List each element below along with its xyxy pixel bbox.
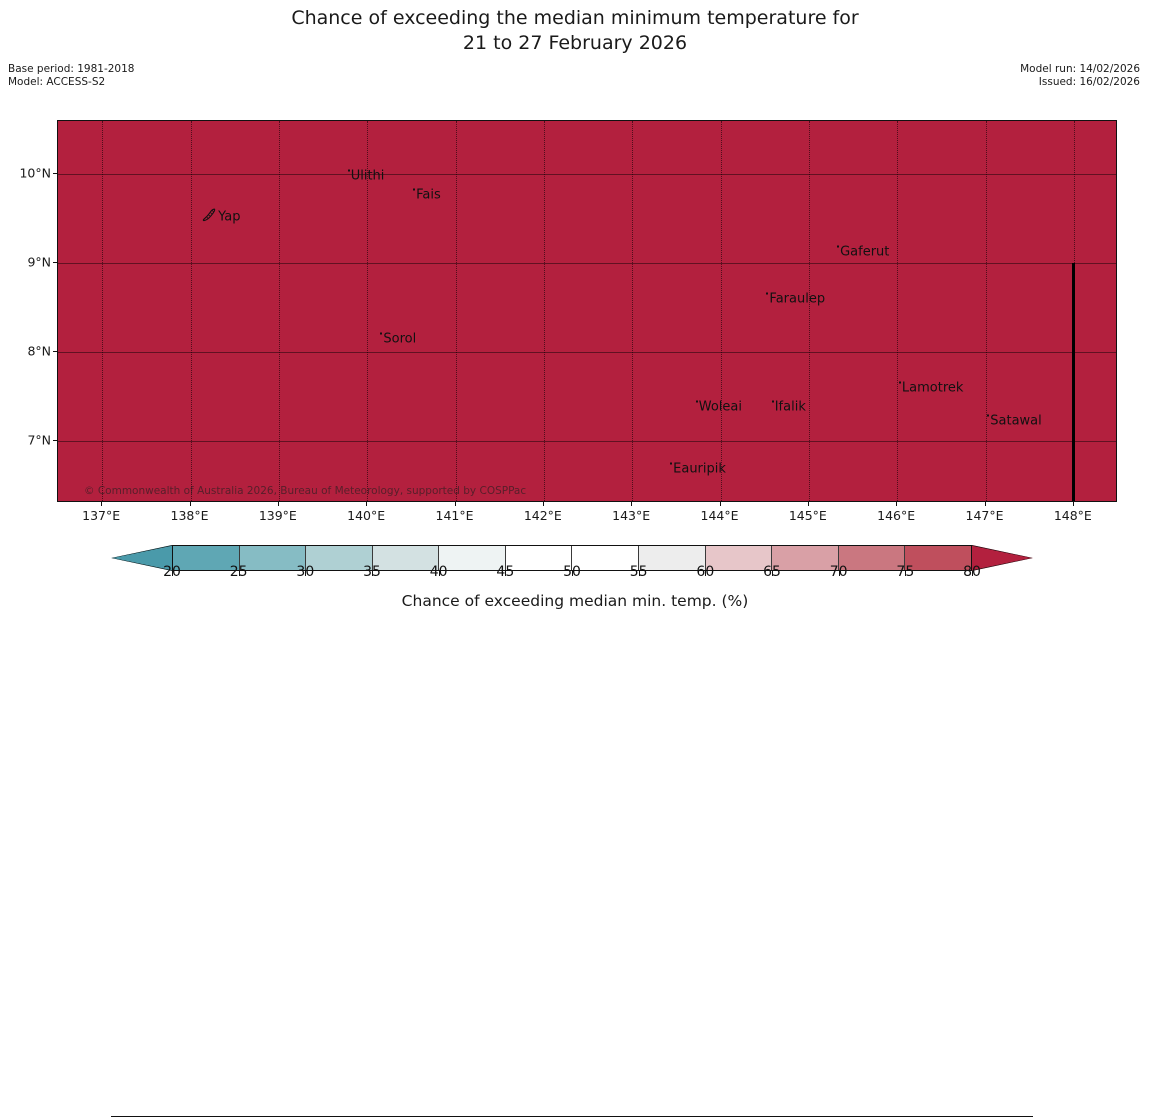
site-name-text: Lamotrek — [902, 380, 964, 395]
site-marker-dot — [766, 292, 768, 294]
island-outline-icon — [201, 207, 217, 227]
copyright-text: © Commonwealth of Australia 2026, Bureau… — [84, 485, 526, 497]
gridline-longitude — [191, 121, 192, 501]
base-period-text: Base period: 1981-2018 — [8, 63, 134, 76]
x-axis-tick-mark — [1073, 502, 1074, 506]
site-name-text: Fais — [416, 187, 441, 202]
site-marker-dot — [987, 415, 989, 417]
site-name-text: Faraulep — [769, 291, 825, 306]
site-marker-dot — [348, 170, 350, 172]
y-axis-tick-mark — [53, 173, 57, 174]
y-axis-tick-mark — [53, 440, 57, 441]
colorbar-tick-label: 35 — [363, 564, 381, 580]
y-axis-tick-label: 7°N — [3, 432, 51, 447]
colorbar-tick-label: 45 — [496, 564, 514, 580]
site-label: Eauripik — [670, 462, 726, 477]
metadata-left: Base period: 1981-2018 Model: ACCESS-S2 — [8, 63, 134, 89]
site-label: Yap — [201, 207, 240, 227]
gridline-latitude — [58, 174, 1116, 175]
site-marker-dot — [899, 381, 901, 383]
site-name-text: Gaferut — [840, 244, 889, 259]
site-marker-dot — [413, 188, 415, 190]
x-axis-tick-label: 144°E — [700, 508, 738, 523]
colorbar-tick-label: 55 — [630, 564, 648, 580]
gridline-longitude — [456, 121, 457, 501]
site-label: Woleai — [696, 400, 742, 415]
colorbar-swatch — [839, 546, 906, 570]
colorbar-tick-label: 80 — [963, 564, 981, 580]
gridline-longitude — [721, 121, 722, 501]
site-name-text: Ulithi — [351, 169, 385, 184]
x-axis-tick-label: 138°E — [170, 508, 208, 523]
site-label: Lamotrek — [899, 380, 964, 395]
site-marker-dot — [380, 332, 382, 334]
y-axis-tick-mark — [53, 262, 57, 263]
site-marker-dot — [696, 401, 698, 403]
gridline-longitude — [632, 121, 633, 501]
gridline-longitude — [809, 121, 810, 501]
x-axis-tick-mark — [190, 502, 191, 506]
site-name-text: Sorol — [383, 331, 416, 346]
gridline-longitude — [279, 121, 280, 501]
site-label: Ulithi — [348, 169, 385, 184]
site-label: Ifalik — [772, 400, 806, 415]
coastline-segment — [1072, 263, 1075, 502]
x-axis-tick-label: 141°E — [435, 508, 473, 523]
gridline-longitude — [986, 121, 987, 501]
y-axis-tick-label: 8°N — [3, 343, 51, 358]
x-axis-tick-label: 142°E — [524, 508, 562, 523]
x-axis-tick-label: 143°E — [612, 508, 650, 523]
site-label: Satawal — [987, 414, 1042, 429]
y-axis-tick-label: 9°N — [3, 255, 51, 270]
x-axis-tick-mark — [101, 502, 102, 506]
page-title: Chance of exceeding the median minimum t… — [0, 6, 1150, 56]
site-marker-dot — [772, 401, 774, 403]
metadata-right: Model run: 14/02/2026 Issued: 16/02/2026 — [1020, 63, 1140, 89]
y-axis-tick-label: 10°N — [3, 166, 51, 181]
x-axis-tick-mark — [808, 502, 809, 506]
gridline-latitude — [58, 352, 1116, 353]
site-name-text: Woleai — [699, 400, 742, 415]
y-axis-tick-mark — [53, 351, 57, 352]
x-axis-tick-label: 137°E — [82, 508, 120, 523]
model-text: Model: ACCESS-S2 — [8, 76, 134, 89]
x-axis-tick-mark — [455, 502, 456, 506]
colorbar-tick-label: 30 — [296, 564, 314, 580]
x-axis-tick-mark — [543, 502, 544, 506]
site-label: Fais — [413, 187, 441, 202]
x-axis-tick-label: 147°E — [965, 508, 1003, 523]
colorbar-tick-label: 25 — [230, 564, 248, 580]
colorbar-title: Chance of exceeding median min. temp. (%… — [0, 592, 1150, 610]
x-axis-tick-mark — [985, 502, 986, 506]
x-axis-tick-label: 140°E — [347, 508, 385, 523]
map-plot-area: YapUlithiFaisGaferutFaraulepSorolWoleaiI… — [57, 120, 1117, 502]
site-marker-dot — [837, 245, 839, 247]
colorbar-tick-label: 60 — [696, 564, 714, 580]
x-axis-tick-mark — [720, 502, 721, 506]
colorbar-over-arrow — [972, 545, 1033, 571]
colorbar-tick-label: 50 — [563, 564, 581, 580]
colorbar-swatch — [905, 546, 971, 570]
x-axis-tick-label: 148°E — [1054, 508, 1092, 523]
site-marker-dot — [670, 463, 672, 465]
model-run-text: Model run: 14/02/2026 — [1020, 63, 1140, 76]
probability-field-raster — [58, 121, 1116, 501]
colorbar-tick-label: 70 — [830, 564, 848, 580]
colorbar-tick-label: 20 — [163, 564, 181, 580]
site-name-text: Satawal — [990, 414, 1042, 429]
x-axis-tick-mark — [366, 502, 367, 506]
site-label: Sorol — [380, 331, 416, 346]
colorbar-tick-label: 40 — [430, 564, 448, 580]
x-axis-tick-label: 139°E — [259, 508, 297, 523]
gridline-latitude — [58, 263, 1116, 264]
x-axis-tick-label: 145°E — [789, 508, 827, 523]
site-label: Faraulep — [766, 291, 825, 306]
site-name-text: Ifalik — [775, 400, 806, 415]
issued-text: Issued: 16/02/2026 — [1020, 76, 1140, 89]
colorbar-tick-label: 75 — [896, 564, 914, 580]
x-axis-tick-mark — [896, 502, 897, 506]
site-name-text: Yap — [218, 209, 240, 224]
x-axis-tick-mark — [631, 502, 632, 506]
colorbar-tick-label: 65 — [763, 564, 781, 580]
gridline-longitude — [897, 121, 898, 501]
site-label: Gaferut — [837, 244, 889, 259]
gridline-longitude — [544, 121, 545, 501]
gridline-longitude — [102, 121, 103, 501]
site-name-text: Eauripik — [673, 462, 726, 477]
x-axis-tick-label: 146°E — [877, 508, 915, 523]
gridline-latitude — [58, 441, 1116, 442]
x-axis-tick-mark — [278, 502, 279, 506]
forecast-map-page: Chance of exceeding the median minimum t… — [0, 0, 1150, 644]
